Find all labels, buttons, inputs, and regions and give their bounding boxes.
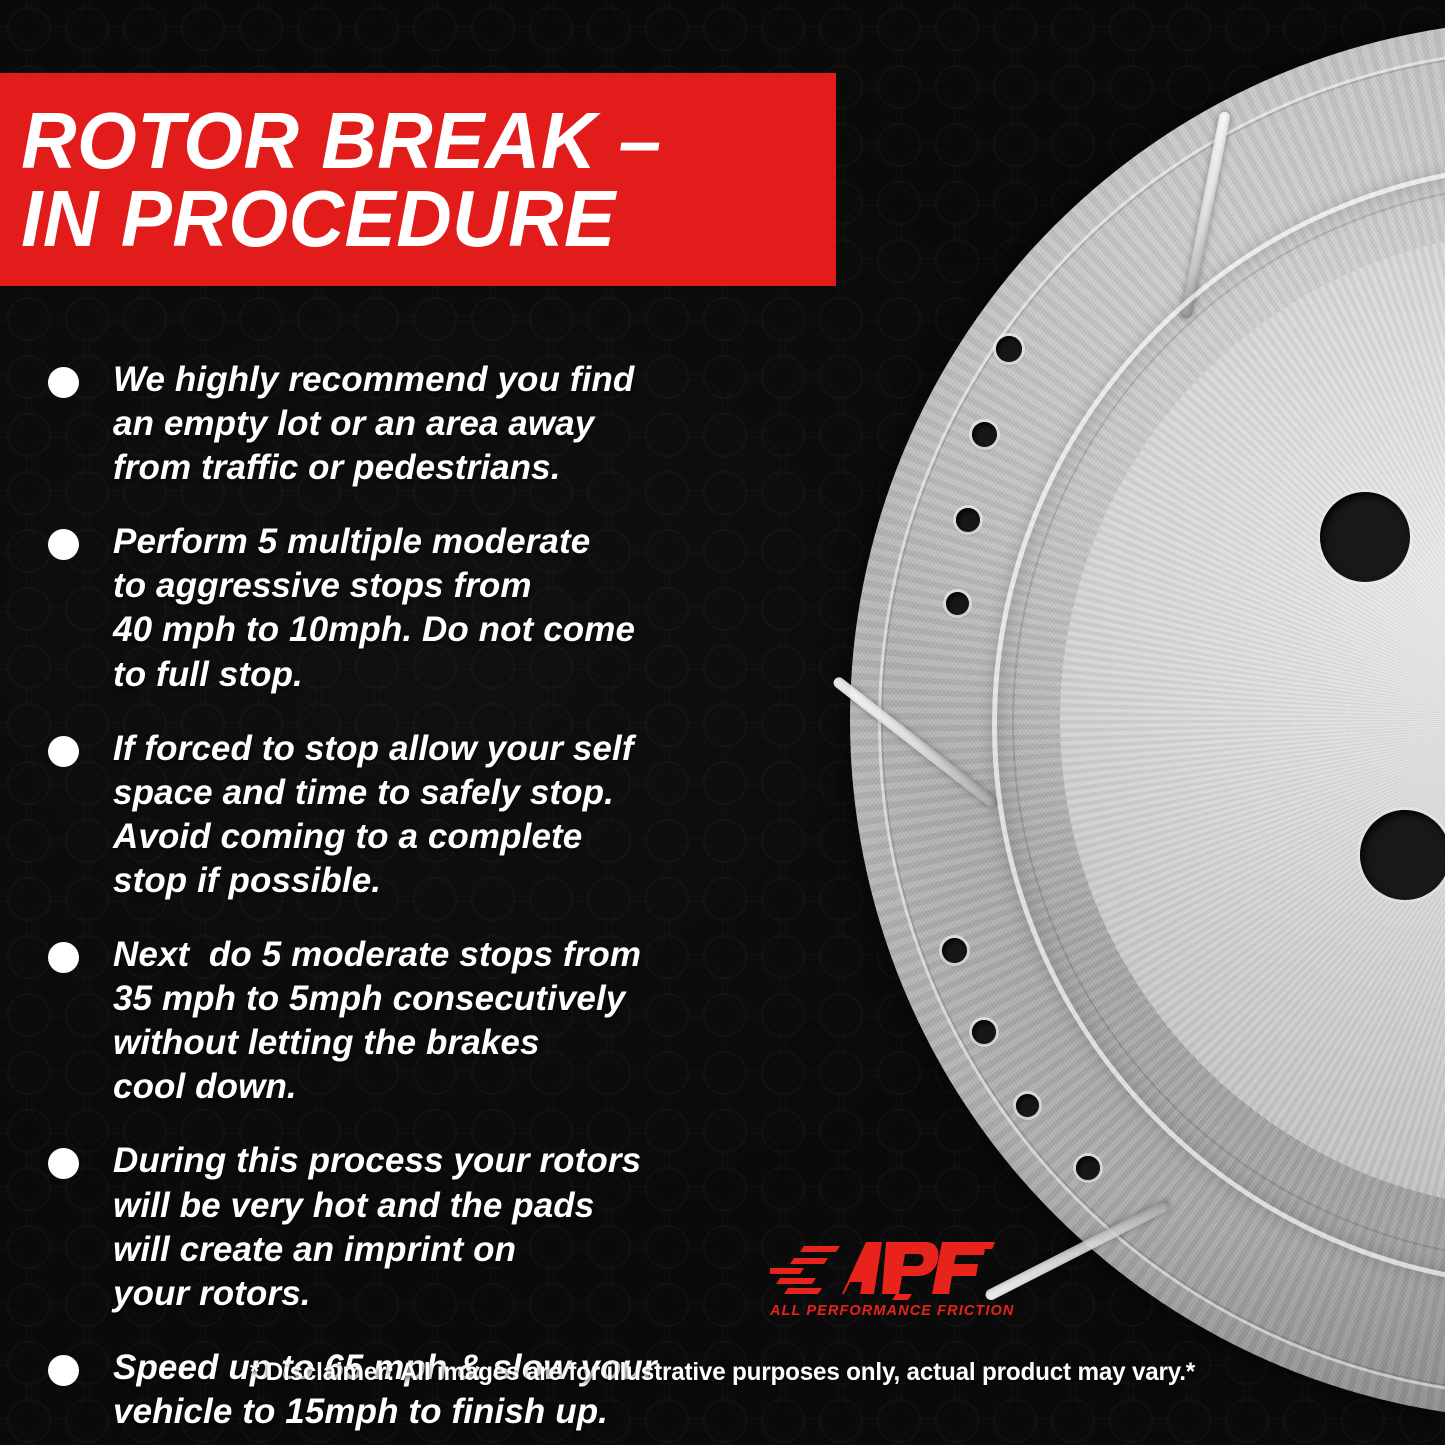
promo-graphic: ROTOR BREAK – IN PROCEDURE We highly rec… (0, 0, 1445, 1445)
apf-logo-mark-icon (770, 1238, 995, 1300)
list-item-text: If forced to stop allow your self space … (113, 727, 634, 903)
list-item: We highly recommend you find an empty lo… (48, 358, 768, 490)
list-item-text: During this process your rotors will be … (113, 1139, 641, 1315)
list-item-text: Perform 5 multiple moderate to aggressiv… (113, 520, 635, 696)
list-item-text: Next do 5 moderate stops from 35 mph to … (113, 933, 641, 1109)
bullet-dot-icon (48, 736, 79, 767)
title-banner: ROTOR BREAK – IN PROCEDURE (0, 73, 836, 286)
bullet-dot-icon (48, 1148, 79, 1179)
apf-logo-tagline: ALL PERFORMANCE FRICTION (770, 1303, 995, 1319)
disclaimer-text: * Disclaimer: All images are for illustr… (22, 1358, 1424, 1387)
bullet-dot-icon (48, 529, 79, 560)
title-line-1: ROTOR BREAK – (0, 102, 803, 180)
list-item: During this process your rotors will be … (48, 1139, 768, 1315)
list-item-text: We highly recommend you find an empty lo… (113, 358, 634, 490)
list-item: Perform 5 multiple moderate to aggressiv… (48, 520, 768, 696)
bullet-dot-icon (48, 942, 79, 973)
title-line-2: IN PROCEDURE (0, 180, 803, 258)
list-item: If forced to stop allow your self space … (48, 727, 768, 903)
bullet-dot-icon (48, 367, 79, 398)
instruction-list: We highly recommend you find an empty lo… (48, 358, 768, 1445)
apf-logo: ALL PERFORMANCE FRICTION (770, 1238, 995, 1333)
list-item: Next do 5 moderate stops from 35 mph to … (48, 933, 768, 1109)
